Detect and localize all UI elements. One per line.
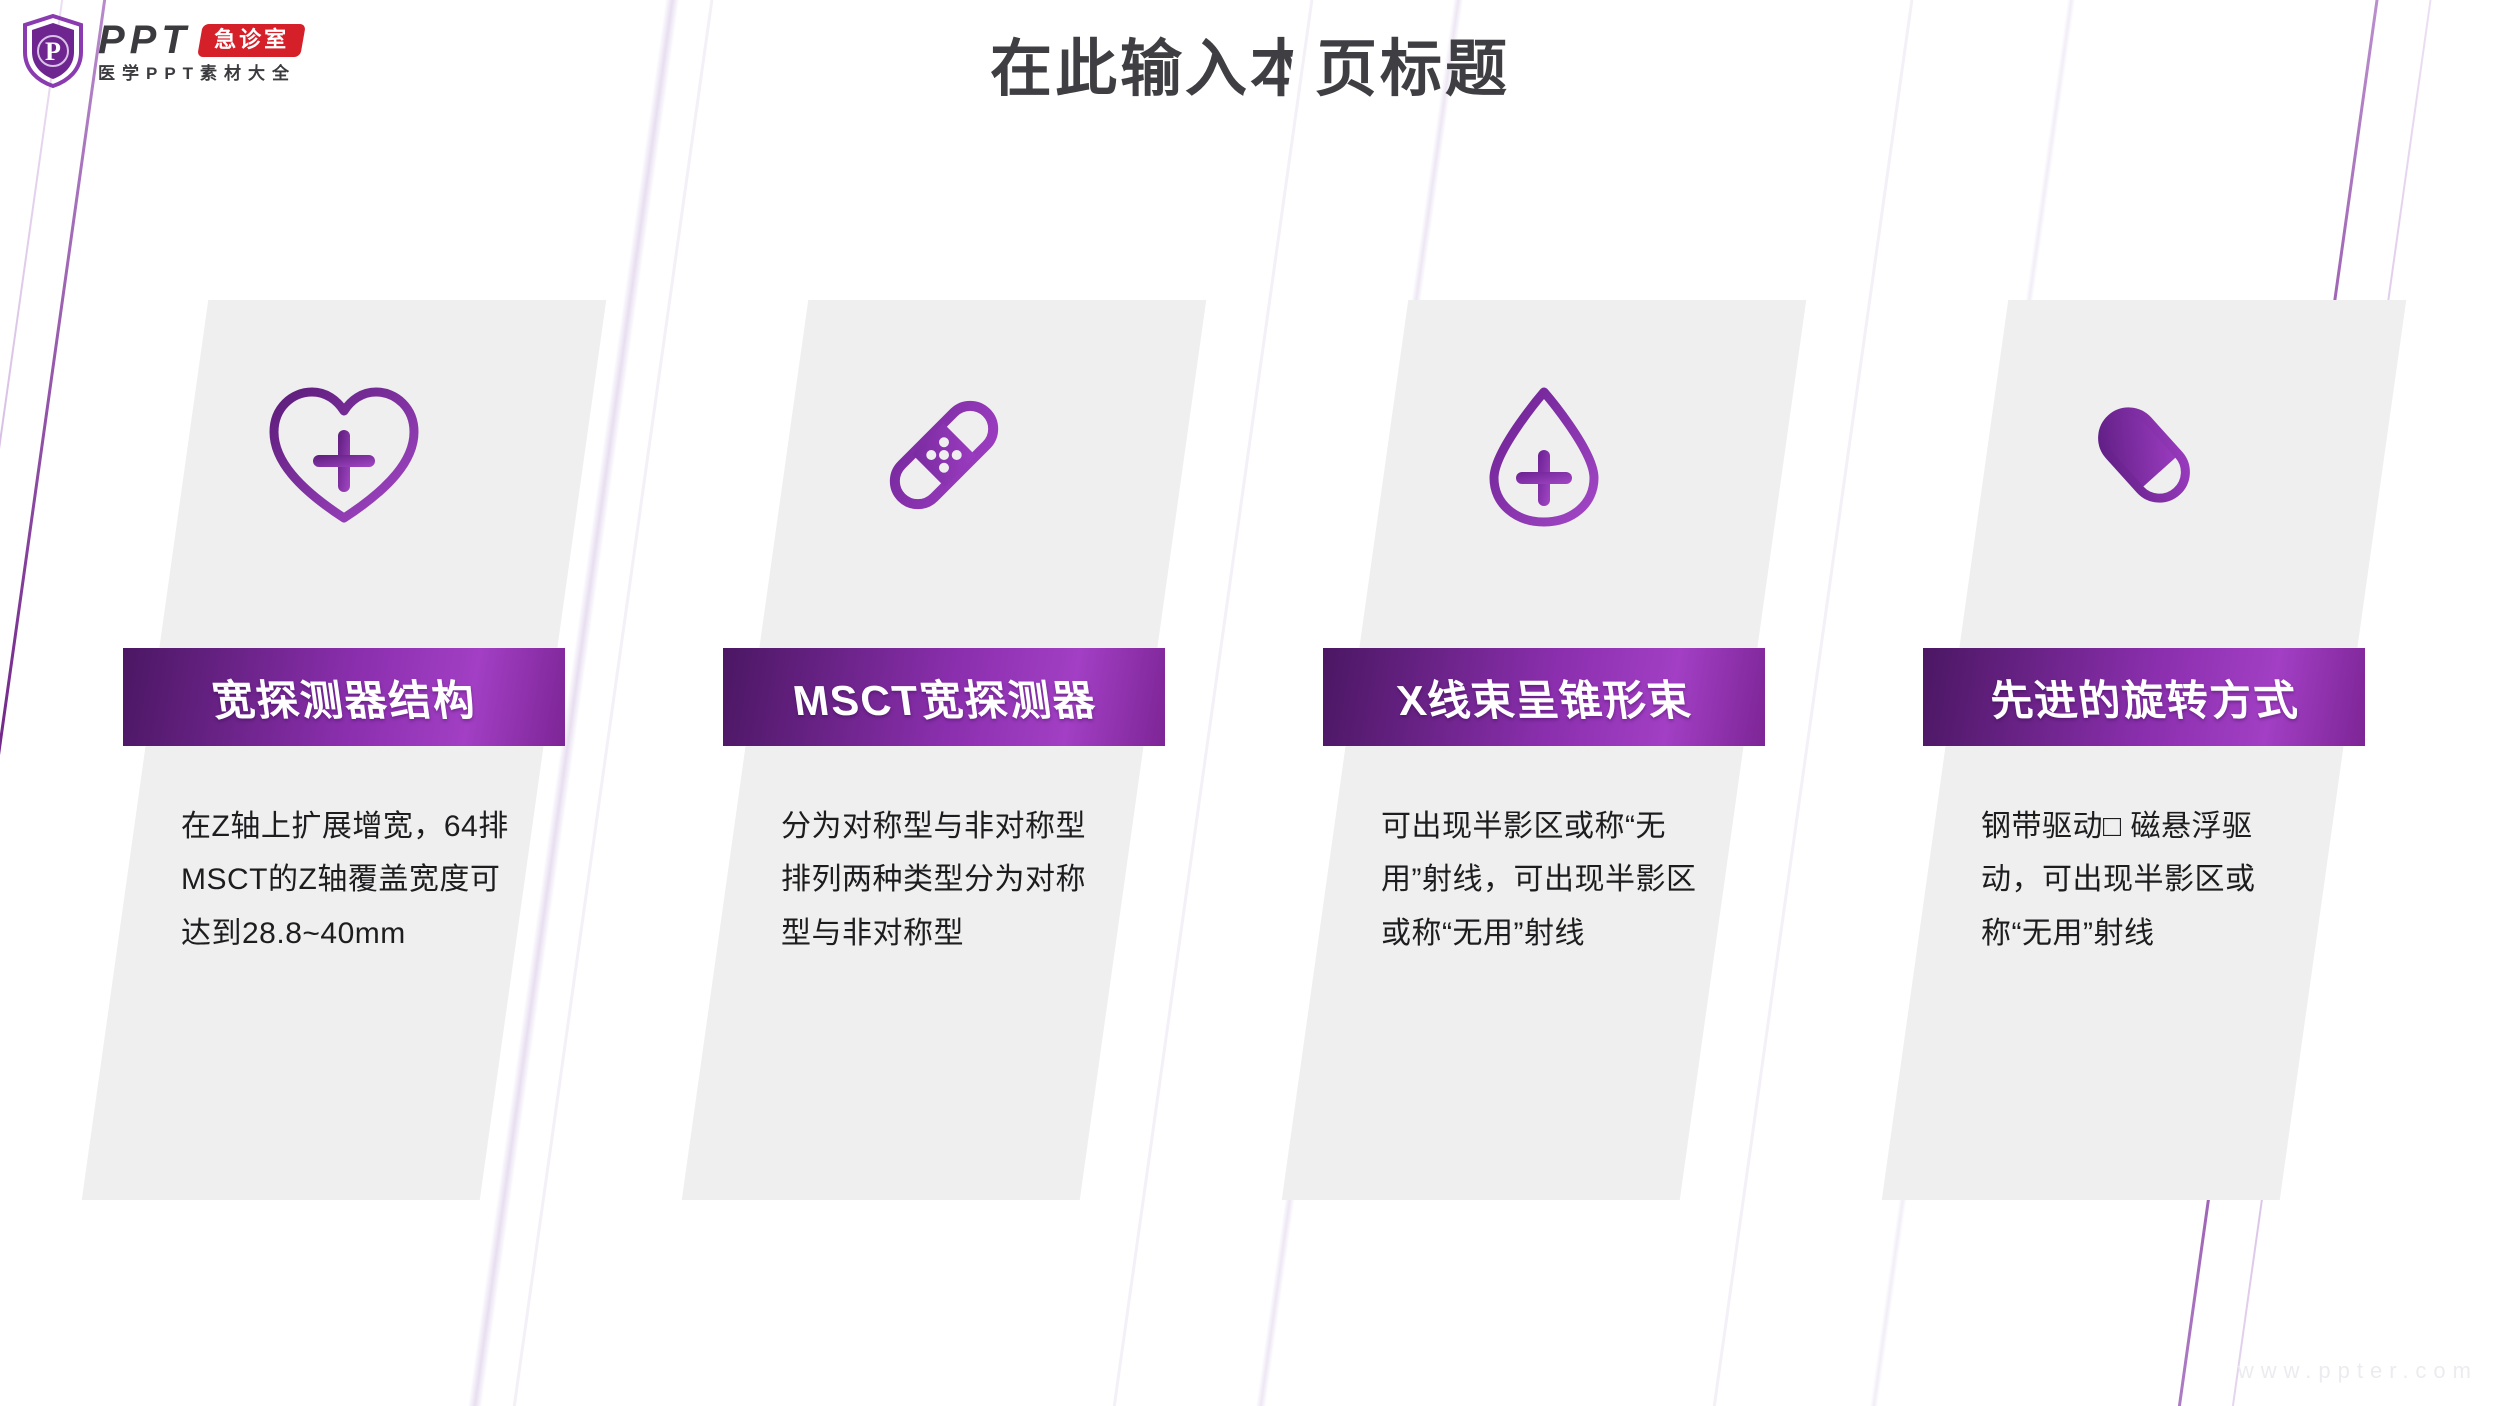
slide-canvas: P PPT 急诊室 医学PPT素材大全 在此输入本页标题 <box>0 0 2500 1406</box>
card-3-body: 可出现半影区或称“无用”射线，可出现半影区或称“无用”射线 <box>1381 800 1713 960</box>
card-4-body: 钢带驱动□ 磁悬浮驱动，可出现半影区或称“无用”射线 <box>1981 800 2313 960</box>
cards-container: 宽探测器结构 在Z轴上扩展增宽，64排MSCT的Z轴覆盖宽度可达到28.8~40… <box>0 0 2500 1406</box>
card-4[interactable]: 先进的旋转方式 钢带驱动□ 磁悬浮驱动，可出现半影区或称“无用”射线 <box>1882 300 2406 1200</box>
card-3[interactable]: X线束呈锥形束 可出现半影区或称“无用”射线，可出现半影区或称“无用”射线 <box>1282 300 1806 1200</box>
site-watermark: www.ppter.com <box>2238 1358 2478 1384</box>
card-2[interactable]: MSCT宽探测器 分为对称型与非对称型排列两种类型分为对称型与非对称型 <box>682 300 1206 1200</box>
bandage-icon <box>745 355 1143 555</box>
card-1-band: 宽探测器结构 <box>123 648 565 746</box>
card-2-title: MSCT宽探测器 <box>788 667 1100 728</box>
heart-plus-icon <box>145 355 543 555</box>
card-4-band: 先进的旋转方式 <box>1923 648 2365 746</box>
card-2-body: 分为对称型与非对称型排列两种类型分为对称型与非对称型 <box>781 800 1113 960</box>
capsule-pill-icon <box>1945 355 2343 555</box>
card-1-title: 宽探测器结构 <box>208 667 481 728</box>
card-1-body: 在Z轴上扩展增宽，64排MSCT的Z轴覆盖宽度可达到28.8~40mm <box>181 800 513 960</box>
card-3-band: X线束呈锥形束 <box>1323 648 1765 746</box>
card-4-title: 先进的旋转方式 <box>1986 667 2303 728</box>
card-2-band: MSCT宽探测器 <box>723 648 1165 746</box>
card-3-title: X线束呈锥形束 <box>1393 667 1696 728</box>
blood-drop-plus-icon <box>1345 355 1743 555</box>
card-1[interactable]: 宽探测器结构 在Z轴上扩展增宽，64排MSCT的Z轴覆盖宽度可达到28.8~40… <box>82 300 606 1200</box>
